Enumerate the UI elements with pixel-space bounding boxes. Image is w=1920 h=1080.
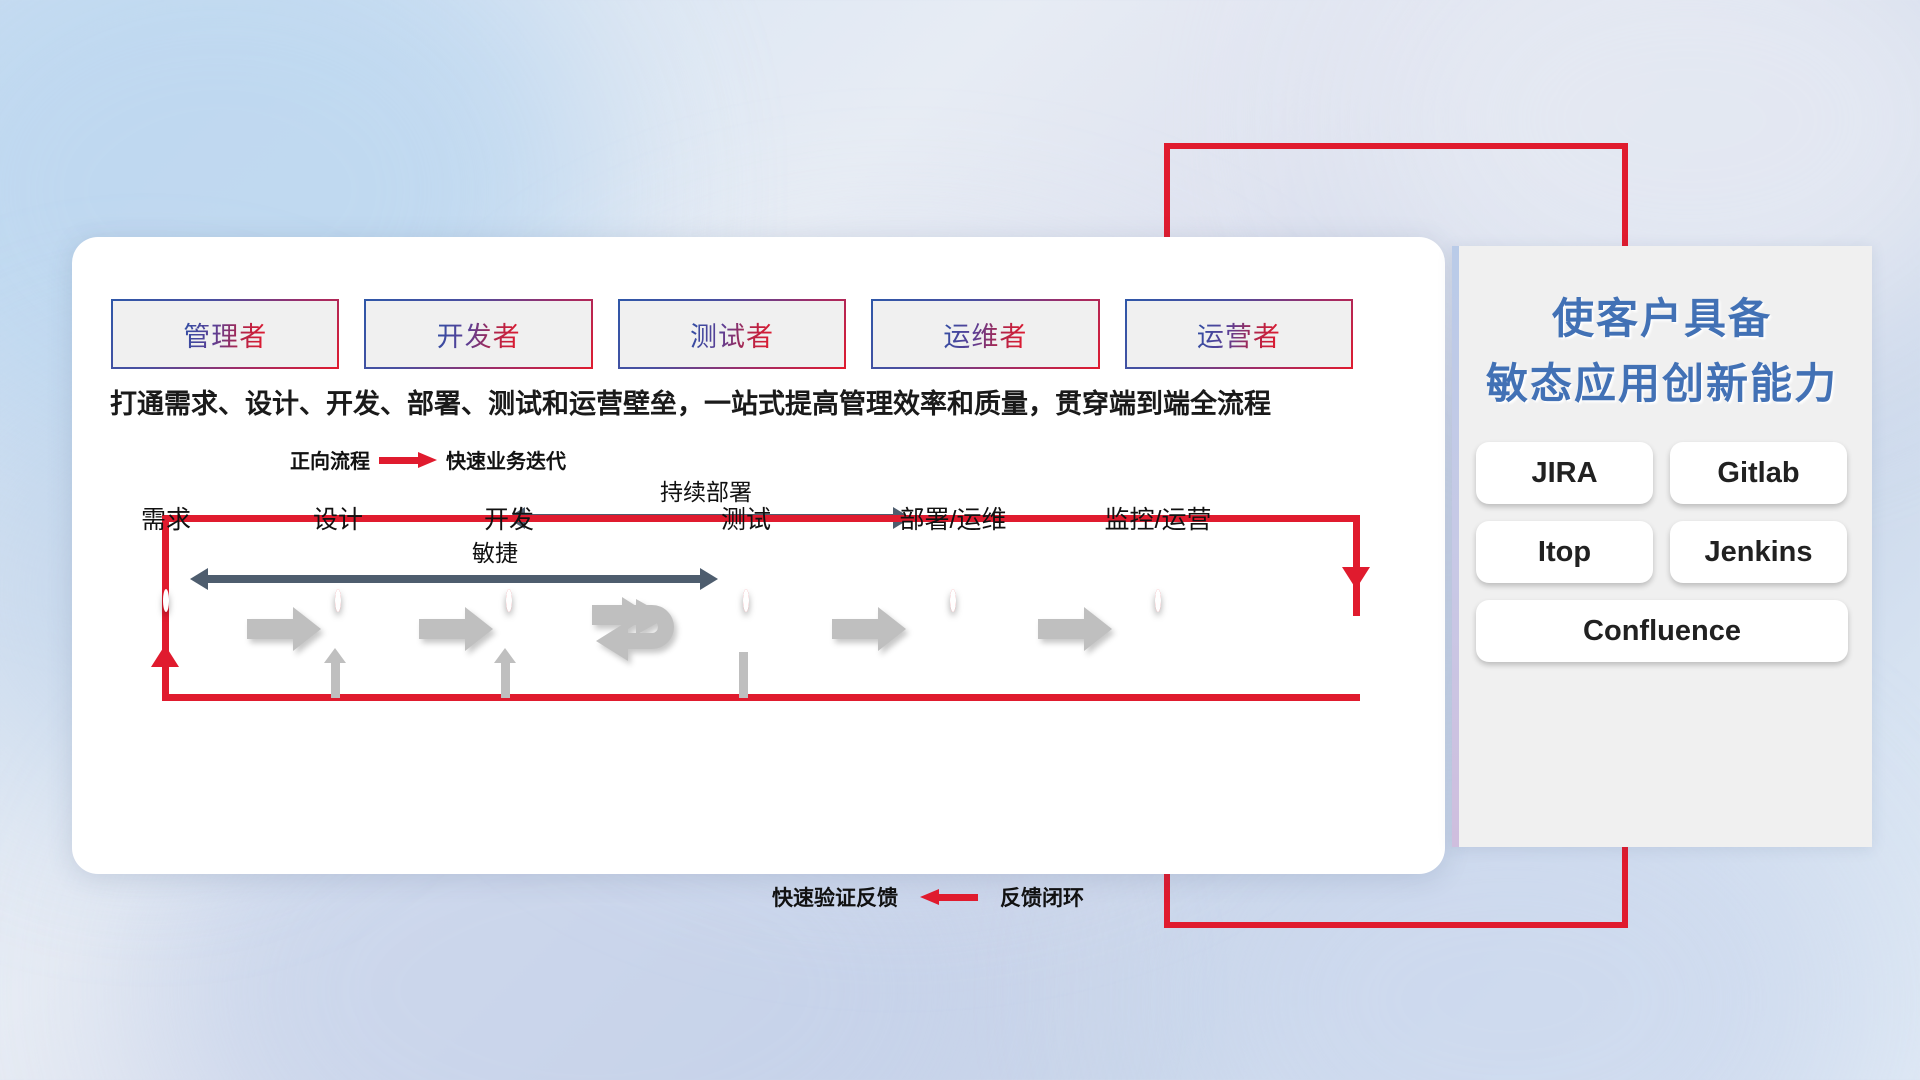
pipeline-node-dot: [743, 589, 749, 612]
tool-tile-grid: JIRA Gitlab Itop Jenkins Confluence: [1476, 442, 1848, 662]
pipeline-node-dot: [335, 589, 341, 612]
pipeline-node-label: 部署/运维: [900, 500, 1007, 536]
pipeline-node-dot: [1155, 589, 1161, 612]
side-panel: 使客户具备 敏态应用创新能力 JIRA Gitlab Itop Jenkins …: [1452, 246, 1872, 847]
chevron-right-icon: [832, 607, 906, 651]
feedback-left-label: 快速验证反馈: [772, 882, 898, 912]
chevron-right-icon: [419, 607, 493, 651]
panel-title-line2: 敏态应用创新能力: [1452, 350, 1872, 411]
pipeline-node-dot: [506, 589, 512, 612]
pipeline-node-label: 需求: [141, 500, 191, 536]
feedback-caption: 快速验证反馈 反馈闭环: [772, 882, 1084, 912]
pipeline-node-label: 测试: [721, 500, 771, 536]
chevron-right-icon: [247, 607, 321, 651]
tool-tile-jenkins[interactable]: Jenkins: [1670, 521, 1847, 583]
pipeline-node-dot: [950, 589, 956, 612]
tool-tile-jira[interactable]: JIRA: [1476, 442, 1653, 504]
panel-title-line1: 使客户具备: [1452, 285, 1872, 346]
feedback-right-label: 反馈闭环: [1000, 882, 1084, 912]
main-diagram-card: 管理者 开发者 测试者 运维者 运营者 打通需求、设计、开发、部署、测试和运营壁…: [72, 237, 1445, 874]
pipeline-node-deploy-ops[interactable]: 部署/运维: [950, 592, 956, 610]
tool-tile-confluence[interactable]: Confluence: [1476, 600, 1848, 662]
loop-back-arrow-icon: [592, 597, 690, 661]
tool-tile-gitlab[interactable]: Gitlab: [1670, 442, 1847, 504]
pipeline-node-testing[interactable]: 测试: [743, 592, 749, 610]
pipeline-node-monitor-operations[interactable]: 监控/运营: [1155, 592, 1161, 610]
pipeline-node-design[interactable]: 设计: [335, 592, 341, 610]
pipeline-node-label: 设计: [313, 500, 363, 536]
chevron-right-icon: [1038, 607, 1112, 651]
pipeline-node-development[interactable]: 开发: [506, 592, 512, 610]
pipeline-node-label: 监控/运营: [1105, 500, 1212, 536]
pipeline-node-requirements[interactable]: 需求: [163, 592, 169, 610]
red-arrow-left-icon: [920, 889, 978, 905]
pipeline-node-dot: [163, 589, 169, 612]
pipeline-node-label: 开发: [484, 500, 534, 536]
tool-tile-itop[interactable]: Itop: [1476, 521, 1653, 583]
pipeline: 需求 设计 开发 测试 部署/运维 监控/运营: [72, 237, 1445, 874]
